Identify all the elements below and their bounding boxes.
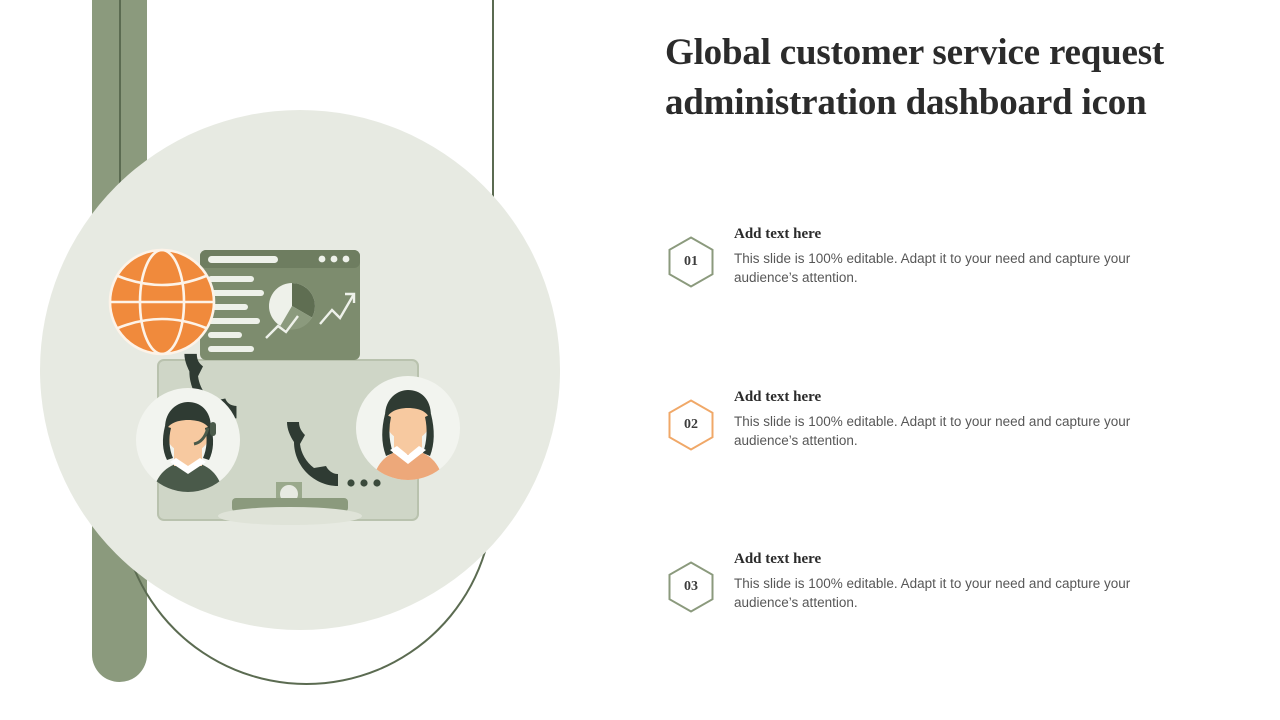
badge-number: 02 bbox=[684, 417, 698, 433]
dashboard-screen bbox=[200, 250, 360, 360]
list-item: 03 Add text here This slide is 100% edit… bbox=[665, 551, 1185, 641]
hexagon-badge-02: 02 bbox=[668, 399, 714, 451]
window-dot-icon bbox=[319, 256, 326, 263]
hexagon-badge-01: 01 bbox=[668, 236, 714, 288]
hexagon-badge-03: 03 bbox=[668, 561, 714, 613]
signal-dots-icon bbox=[347, 479, 380, 486]
list-item-heading: Add text here bbox=[734, 551, 821, 568]
badge-number: 03 bbox=[684, 579, 698, 595]
global-customer-service-illustration bbox=[40, 110, 560, 630]
list-item-body: This slide is 100% editable. Adapt it to… bbox=[734, 575, 1170, 612]
list-item-body: This slide is 100% editable. Adapt it to… bbox=[734, 413, 1170, 450]
list-item: 02 Add text here This slide is 100% edit… bbox=[665, 389, 1185, 479]
list-item-body: This slide is 100% editable. Adapt it to… bbox=[734, 250, 1170, 287]
window-dot-icon bbox=[331, 256, 338, 263]
list-item-heading: Add text here bbox=[734, 226, 821, 243]
list-item: 01 Add text here This slide is 100% edit… bbox=[665, 226, 1185, 316]
content-column: Global customer service request administ… bbox=[665, 0, 1225, 720]
illustration-container bbox=[40, 110, 560, 630]
page-title: Global customer service request administ… bbox=[665, 28, 1185, 128]
badge-number: 01 bbox=[684, 254, 698, 270]
window-dot-icon bbox=[343, 256, 350, 263]
list-item-heading: Add text here bbox=[734, 389, 821, 406]
globe-icon bbox=[110, 250, 214, 354]
